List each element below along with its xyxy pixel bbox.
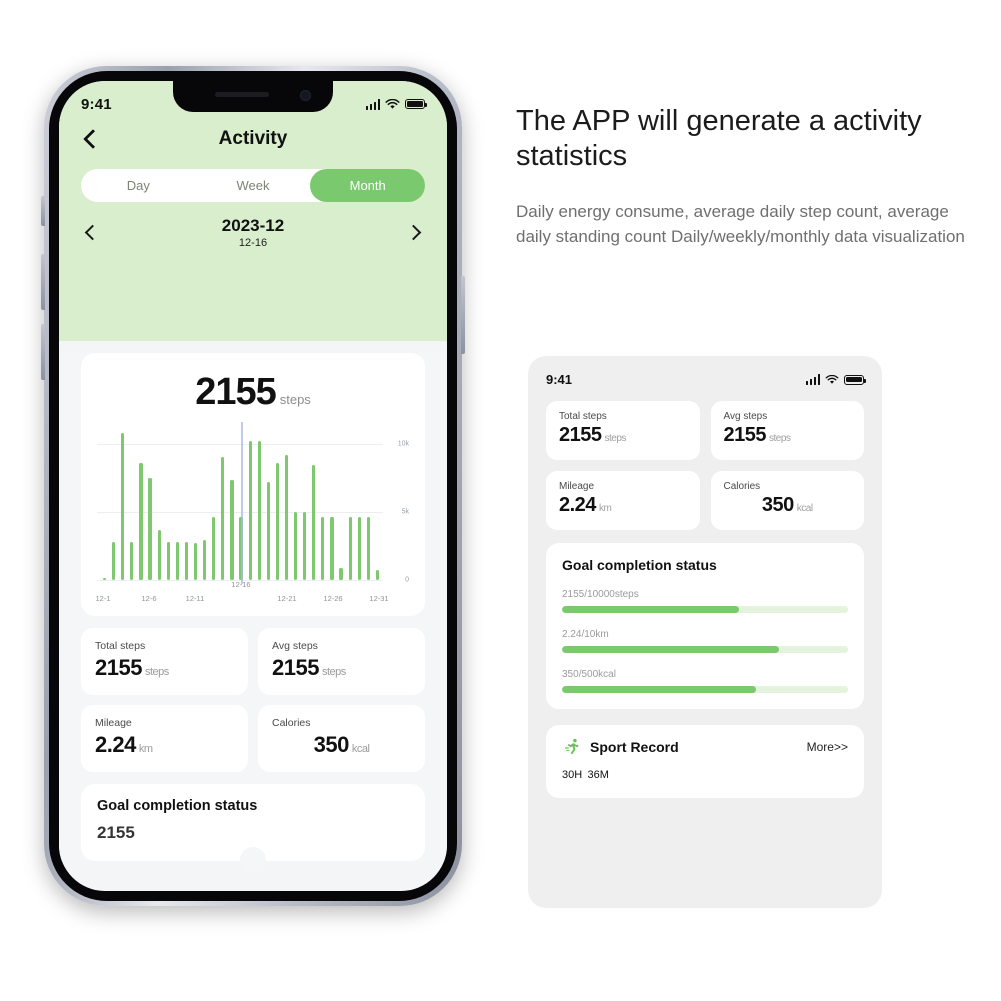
chart-x-tick-label: 12-21: [277, 594, 296, 603]
goal-progress-track: [562, 686, 848, 693]
stat-label: Calories: [724, 481, 852, 492]
chart-x-tick-label: 12-16: [231, 580, 250, 589]
chart-x-tick-label: 12-11: [186, 594, 205, 603]
chart-bar[interactable]: [303, 512, 306, 580]
chart-highlight-marker: [241, 422, 243, 584]
steps-summary: 2155steps: [91, 371, 415, 414]
chart-x-axis: 12-112-612-1112-1612-2112-2612-31: [97, 584, 409, 608]
goal-title: Goal completion status: [97, 798, 409, 814]
tab-week[interactable]: Week: [196, 169, 311, 202]
panel-stat-avg-steps: Avg steps 2155steps: [711, 401, 865, 460]
chart-y-tick-label: 0: [405, 577, 409, 584]
chart-bar[interactable]: [258, 441, 261, 580]
signal-bars-icon: [366, 99, 381, 110]
chart-bar[interactable]: [121, 433, 124, 580]
chart-bar[interactable]: [158, 530, 161, 580]
chart-x-tick-label: 12-1: [95, 594, 110, 603]
chart-x-tick-label: 12-26: [323, 594, 342, 603]
stat-label: Avg steps: [272, 640, 411, 652]
stat-value: 350: [762, 494, 794, 516]
steps-summary-unit: steps: [280, 392, 311, 407]
stat-unit: kcal: [797, 503, 813, 514]
stat-label: Mileage: [559, 481, 687, 492]
chart-bar[interactable]: [221, 457, 224, 580]
silent-switch[interactable]: [41, 196, 45, 226]
goal-progress-track: [562, 606, 848, 613]
chart-bar[interactable]: [367, 517, 370, 580]
signal-bars-icon: [806, 374, 821, 385]
panel-stat-calories: Calories 350kcal: [711, 471, 865, 530]
stat-value: 2155: [95, 655, 142, 680]
stat-value: 350: [314, 732, 349, 757]
goal-value: 350: [562, 669, 579, 680]
sport-record-card[interactable]: Sport Record More>> 30H 36M: [546, 725, 864, 798]
goal-progress-fill: [562, 646, 779, 653]
prev-month-button[interactable]: [81, 223, 101, 243]
app-navbar: Activity: [59, 115, 447, 157]
tab-day[interactable]: Day: [81, 169, 196, 202]
goal-target: /10000steps: [584, 589, 639, 600]
app-body: 2155steps 10k5k0 12-112-612-1112-1612-21…: [59, 353, 447, 861]
chart-x-tick-label: 12-6: [141, 594, 156, 603]
stat-card-calories: Calories 350kcal: [258, 705, 425, 772]
panel-stat-total-steps: Total steps 2155steps: [546, 401, 700, 460]
stat-value: 2155: [272, 655, 319, 680]
goal-clipped-value: 2155: [97, 823, 409, 843]
page-title: Activity: [79, 128, 427, 150]
date-display: 2023-12 12-16: [222, 216, 284, 249]
goal-target: /10km: [581, 629, 608, 640]
stat-card-avg-steps: Avg steps 2155steps: [258, 628, 425, 695]
back-button[interactable]: [79, 128, 101, 150]
goal-title: Goal completion status: [562, 557, 848, 573]
page-root: 9:41 Activity: [0, 0, 1001, 1001]
goal-target: /500kcal: [579, 669, 616, 680]
goal-progress-track: [562, 646, 848, 653]
chart-bar[interactable]: [330, 517, 333, 580]
stat-unit: kcal: [352, 743, 370, 755]
goal-progress-fill: [562, 606, 739, 613]
chart-y-tick-label: 5k: [402, 508, 409, 515]
chart-bar[interactable]: [212, 517, 215, 580]
app-detail-panel: 9:41 Total steps 2155steps Avg steps 215…: [528, 356, 882, 908]
goal-value: 2155: [562, 589, 584, 600]
stat-unit: steps: [769, 433, 790, 444]
sport-record-duration: 30H 36M: [562, 762, 848, 784]
panel-stat-grid: Total steps 2155steps Avg steps 2155step…: [546, 401, 864, 530]
steps-bar-chart[interactable]: 10k5k0: [97, 430, 409, 580]
chart-bar[interactable]: [130, 542, 133, 580]
sport-minutes: 36: [587, 769, 599, 781]
chart-bar[interactable]: [194, 543, 197, 580]
wifi-icon: [825, 375, 839, 385]
power-button[interactable]: [461, 276, 465, 354]
stat-value: 2.24: [559, 494, 596, 516]
period-segmented-control[interactable]: Day Week Month: [81, 169, 425, 202]
earpiece-speaker: [215, 92, 269, 97]
phone-screen: 9:41 Activity: [59, 81, 447, 891]
goal-row-calories: 350/500kcal: [562, 664, 848, 693]
chart-bar[interactable]: [103, 578, 106, 580]
stat-unit: steps: [322, 666, 346, 678]
chart-bar[interactable]: [349, 517, 352, 580]
goal-row-steps: 2155/10000steps: [562, 584, 848, 613]
stat-label: Avg steps: [724, 411, 852, 422]
stat-card-total-steps: Total steps 2155steps: [81, 628, 248, 695]
chart-bar[interactable]: [294, 512, 297, 580]
sport-record-title: Sport Record: [590, 739, 679, 755]
chart-bar[interactable]: [167, 542, 170, 580]
stat-value: 2155: [724, 424, 767, 446]
stat-label: Total steps: [95, 640, 234, 652]
marketing-copy: The APP will generate a activity statist…: [516, 104, 976, 250]
volume-up-button[interactable]: [41, 254, 45, 310]
chart-bar[interactable]: [176, 542, 179, 580]
stat-unit: km: [599, 503, 611, 514]
chart-bar[interactable]: [249, 441, 252, 580]
sport-record-header: Sport Record More>>: [562, 737, 848, 757]
tab-month[interactable]: Month: [310, 169, 425, 202]
stat-label: Calories: [272, 717, 411, 729]
chart-bar[interactable]: [112, 542, 115, 580]
subtext: Daily energy consume, average daily step…: [516, 199, 976, 250]
date-navigator: 2023-12 12-16: [81, 216, 425, 249]
date-month: 2023-12: [222, 216, 284, 236]
stat-label: Total steps: [559, 411, 687, 422]
sport-record-left: Sport Record: [562, 737, 679, 757]
chart-bar[interactable]: [203, 540, 206, 580]
stat-unit: steps: [605, 433, 626, 444]
chart-bar[interactable]: [267, 482, 270, 580]
goal-value: 2.24: [562, 629, 581, 640]
status-bar-time: 9:41: [81, 96, 112, 113]
panel-stat-mileage: Mileage 2.24km: [546, 471, 700, 530]
status-bar-icons: [366, 99, 426, 110]
volume-down-button[interactable]: [41, 324, 45, 380]
panel-status-icons: [806, 374, 865, 385]
phone-stat-grid: Total steps 2155steps Avg steps 2155step…: [81, 628, 425, 772]
stat-value: 2155: [559, 424, 602, 446]
front-camera-icon: [300, 90, 311, 101]
chart-x-tick-label: 12-31: [369, 594, 388, 603]
chart-bar[interactable]: [312, 465, 315, 580]
chart-bar[interactable]: [139, 463, 142, 580]
panel-status-time: 9:41: [546, 372, 572, 387]
phone-mockup: 9:41 Activity: [44, 66, 462, 906]
sport-hours: 30: [562, 769, 574, 781]
battery-icon: [844, 375, 864, 385]
chart-bar[interactable]: [230, 480, 233, 580]
running-person-icon: [562, 737, 582, 757]
stat-label: Mileage: [95, 717, 234, 729]
home-indicator: [240, 847, 266, 873]
stat-unit: km: [139, 743, 153, 755]
app-header-area: 9:41 Activity: [59, 81, 447, 341]
chart-bar[interactable]: [358, 517, 361, 580]
panel-goal-card: Goal completion status 2155/10000steps 2…: [546, 543, 864, 709]
stat-card-mileage: Mileage 2.24km: [81, 705, 248, 772]
chart-bar[interactable]: [185, 542, 188, 580]
steps-summary-value: 2155: [195, 371, 276, 413]
chart-bar[interactable]: [339, 568, 342, 580]
chart-bar[interactable]: [321, 517, 324, 580]
chart-bar[interactable]: [285, 455, 288, 580]
wifi-icon: [385, 99, 400, 110]
notch: [173, 81, 333, 112]
stat-unit: steps: [145, 666, 169, 678]
chart-bar[interactable]: [276, 463, 279, 580]
goal-progress-fill: [562, 686, 756, 693]
headline: The APP will generate a activity statist…: [516, 104, 976, 175]
battery-icon: [405, 99, 425, 109]
chart-bar[interactable]: [148, 478, 151, 580]
date-day: 12-16: [222, 237, 284, 249]
chart-y-tick-label: 10k: [398, 440, 409, 447]
next-month-button[interactable]: [405, 223, 425, 243]
sport-record-more-link[interactable]: More>>: [807, 740, 848, 754]
goal-row-mileage: 2.24/10km: [562, 624, 848, 653]
steps-chart-card: 2155steps 10k5k0 12-112-612-1112-1612-21…: [81, 353, 425, 616]
stat-value: 2.24: [95, 732, 136, 757]
panel-status-bar: 9:41: [546, 372, 864, 387]
sport-minutes-unit: M: [600, 769, 609, 781]
sport-hours-unit: H: [574, 769, 582, 781]
chart-bar[interactable]: [376, 570, 379, 580]
